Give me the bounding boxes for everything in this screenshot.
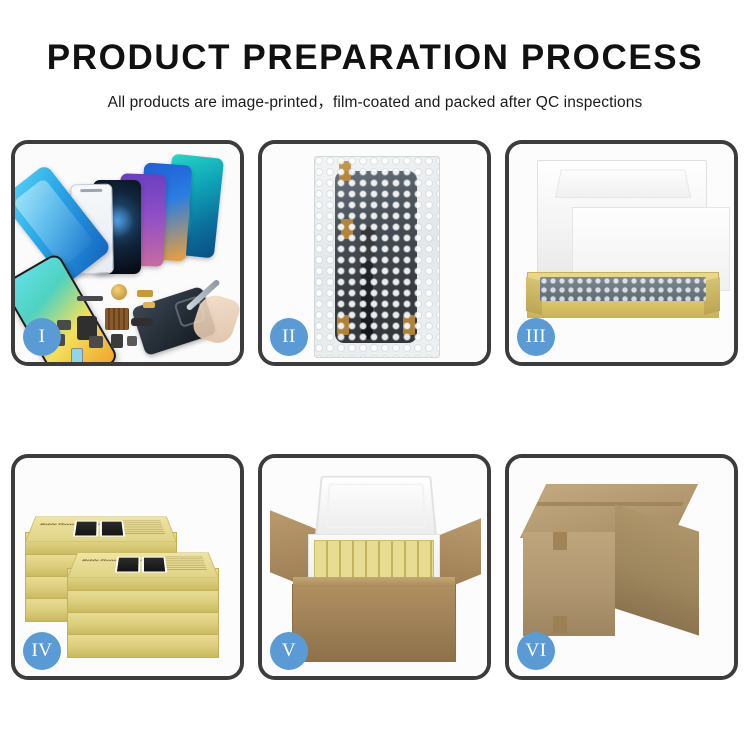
kraft-tray-icon — [527, 272, 719, 318]
process-step-grid: I II — [11, 140, 739, 680]
box-spec-lines — [123, 521, 165, 535]
carton-top-seam — [536, 502, 684, 506]
page-title: PRODUCT PREPARATION PROCESS — [0, 38, 750, 78]
foam-lid-icon — [315, 476, 437, 537]
process-step-4[interactable]: Mobile Phone Spare Parts Mobile Phone Sp… — [11, 454, 244, 680]
process-step-6[interactable]: VI — [505, 454, 738, 680]
bubble-texture — [315, 157, 439, 357]
box-window-right — [100, 521, 125, 537]
stacked-box — [67, 590, 219, 614]
stacked-box — [67, 634, 219, 658]
process-step-1[interactable]: I — [11, 140, 244, 366]
ribbon-part-icon — [131, 318, 153, 326]
step-badge-5: V — [270, 632, 308, 670]
carton-body-icon — [292, 584, 456, 662]
step-badge-3: III — [517, 318, 555, 356]
lid-top-flap — [555, 170, 691, 198]
carton-side-face — [615, 504, 699, 635]
step-badge-1: I — [23, 318, 61, 356]
screw-set-part-icon — [127, 336, 137, 346]
chip-grid-part-icon — [105, 308, 129, 330]
page-header: PRODUCT PREPARATION PROCESS All products… — [0, 0, 750, 112]
box-stack-icon: Mobile Phone Spare Parts Mobile Phone Sp… — [25, 480, 235, 660]
camera-module-part-icon — [89, 336, 103, 348]
flex-strip-part-icon — [77, 296, 103, 301]
page-subtitle: All products are image-printed，film-coat… — [0, 90, 750, 112]
box-window-left — [115, 557, 141, 573]
step-badge-6: VI — [517, 632, 555, 670]
box-spec-lines — [165, 557, 207, 571]
tray-right-flap — [704, 277, 720, 315]
gold-connector-part-icon — [137, 290, 153, 297]
process-step-5[interactable]: V — [258, 454, 491, 680]
process-step-3[interactable]: III — [505, 140, 738, 366]
step-badge-2: II — [270, 318, 308, 356]
step-badge-4: IV — [23, 632, 61, 670]
stacked-box-lid: Mobile Phone Spare Parts — [67, 552, 219, 578]
stacked-box — [67, 612, 219, 636]
carton-tape-lower — [553, 616, 567, 634]
bubble-wrap-bag-icon — [314, 156, 440, 358]
bubble-wrapped-contents-icon — [540, 277, 706, 301]
carton-front-face — [523, 532, 615, 636]
speaker-part-icon — [111, 284, 127, 300]
box-window-left — [73, 521, 99, 537]
white-box-lid-icon — [537, 160, 707, 280]
process-step-2[interactable]: II — [258, 140, 491, 366]
sim-tray-part-icon — [71, 348, 83, 364]
vibrator-part-icon — [111, 334, 123, 348]
carton-tape-upper — [553, 532, 567, 550]
stacked-box-lid: Mobile Phone Spare Parts — [25, 516, 177, 542]
box-window-right — [142, 557, 167, 573]
gold-clip-part-icon — [143, 302, 155, 308]
